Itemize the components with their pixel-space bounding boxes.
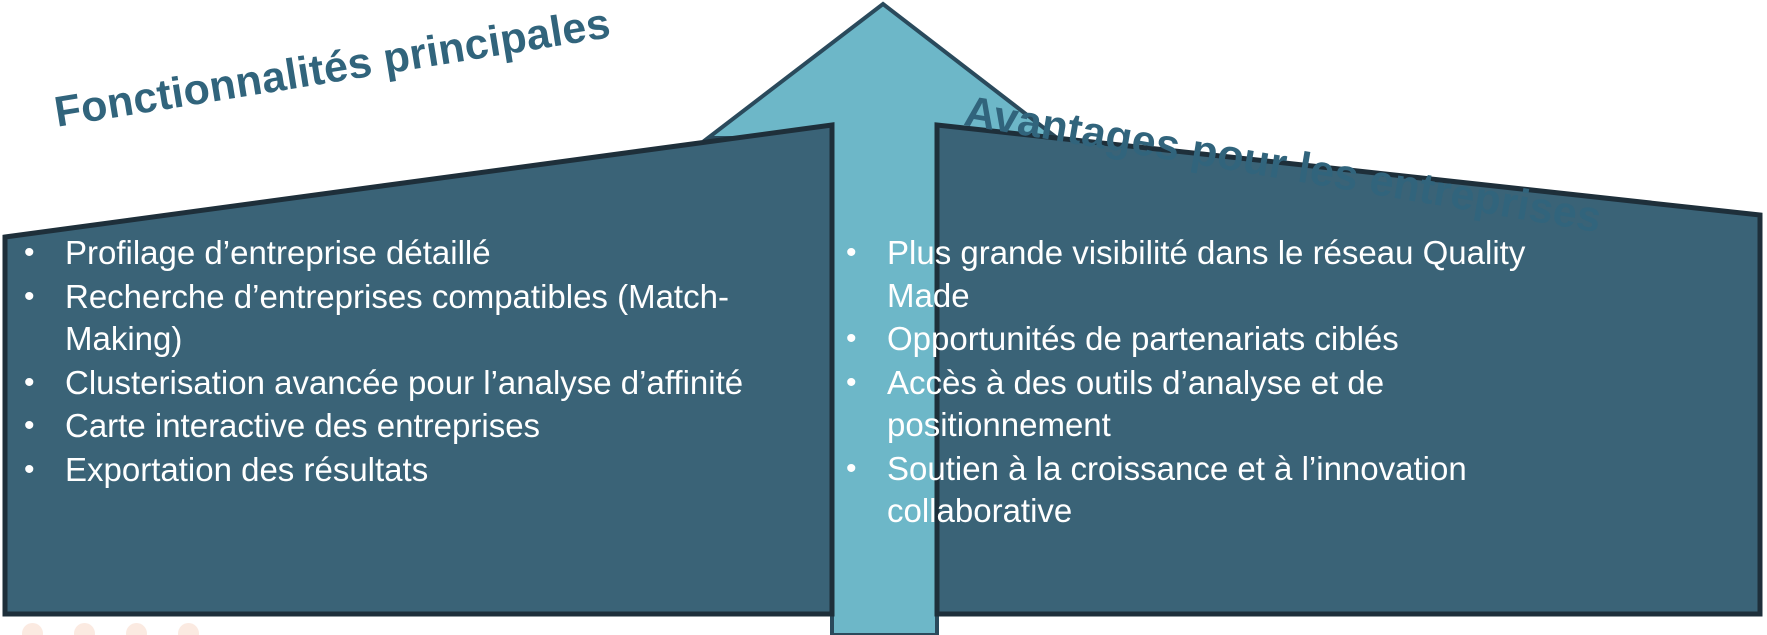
bullet-icon: • [24, 232, 44, 273]
list-item: • Accès à des outils d’analyse et de pos… [840, 362, 1540, 447]
decorative-dot-strip [0, 609, 320, 635]
bullet-icon: • [24, 276, 44, 317]
bullet-icon: • [24, 362, 44, 403]
bullet-icon: • [846, 362, 866, 403]
list-item: • Clusterisation avancée pour l’analyse … [18, 362, 748, 405]
list-item: • Soutien à la croissance et à l’innovat… [840, 448, 1540, 533]
list-item-label: Soutien à la croissance et à l’innovatio… [887, 450, 1467, 530]
bullet-icon: • [24, 449, 44, 490]
list-item-label: Plus grande visibilité dans le réseau Qu… [887, 234, 1525, 314]
list-item-label: Accès à des outils d’analyse et de posit… [887, 364, 1384, 444]
bullet-icon: • [846, 448, 866, 489]
list-item-label: Opportunités de partenariats ciblés [887, 320, 1399, 357]
list-item: • Recherche d’entreprises compatibles (M… [18, 276, 748, 361]
list-item: • Opportunités de partenariats ciblés [840, 318, 1540, 361]
list-item-label: Exportation des résultats [65, 451, 428, 488]
decorative-dot [74, 623, 95, 635]
bullet-icon: • [24, 405, 44, 446]
bullet-icon: • [846, 232, 866, 273]
list-item: • Plus grande visibilité dans le réseau … [840, 232, 1540, 317]
decorative-dot [22, 623, 43, 635]
list-item-label: Clusterisation avancée pour l’analyse d’… [65, 364, 743, 401]
list-item-label: Recherche d’entreprises compatibles (Mat… [65, 278, 729, 358]
decorative-dot [126, 623, 147, 635]
list-item-label: Carte interactive des entreprises [65, 407, 540, 444]
right-panel-benefit-list: • Plus grande visibilité dans le réseau … [840, 232, 1540, 534]
left-panel-feature-list: • Profilage d’entreprise détaillé • Rech… [18, 232, 748, 492]
slide-canvas: Fonctionnalités principales Avantages po… [0, 0, 1767, 635]
list-item-label: Profilage d’entreprise détaillé [65, 234, 491, 271]
list-item: • Profilage d’entreprise détaillé [18, 232, 748, 275]
list-item: • Exportation des résultats [18, 449, 748, 492]
list-item: • Carte interactive des entreprises [18, 405, 748, 448]
decorative-dot [178, 623, 199, 635]
bullet-icon: • [846, 318, 866, 359]
